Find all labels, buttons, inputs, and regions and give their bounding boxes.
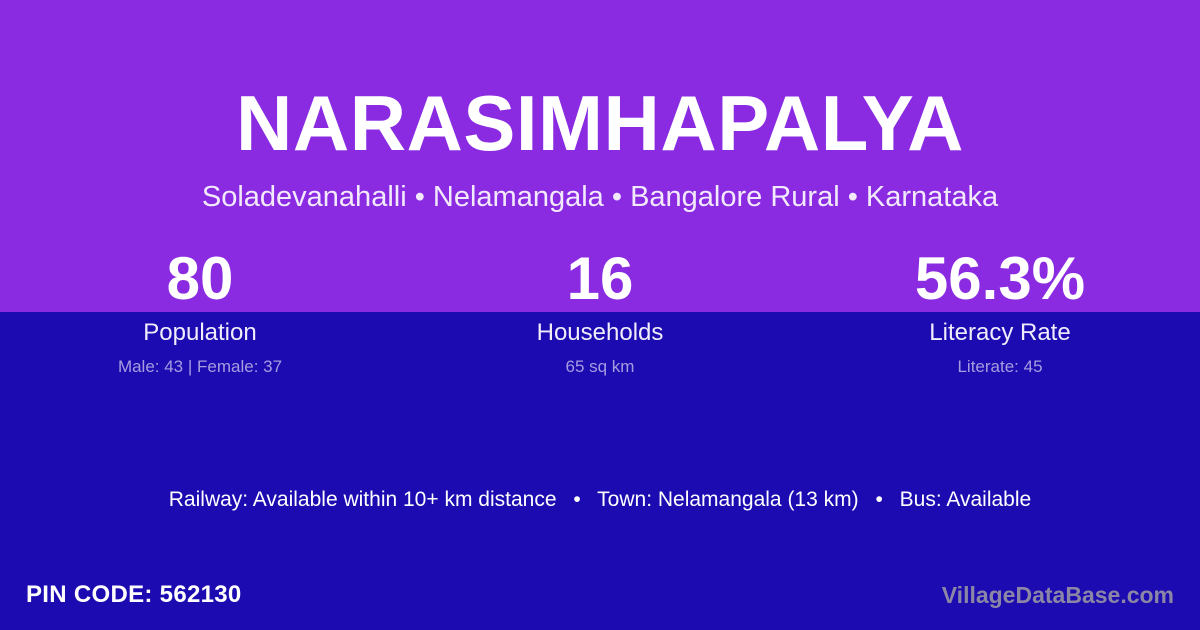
stat-sublabel: 65 sq km <box>400 357 800 377</box>
stat-population: 80 Population Male: 43 | Female: 37 <box>0 248 400 377</box>
facility-railway: Railway: Available within 10+ km distanc… <box>169 488 557 511</box>
stat-sublabel: Literate: 45 <box>800 357 1200 377</box>
facility-town: Town: Nelamangala (13 km) <box>597 488 858 511</box>
stat-label: Households <box>400 319 800 347</box>
bullet-separator-icon: • <box>864 488 893 512</box>
stat-literacy-rate: 56.3% Literacy Rate Literate: 45 <box>800 248 1200 377</box>
stat-label: Literacy Rate <box>800 319 1200 347</box>
brand-watermark: VillageDataBase.com <box>942 581 1174 609</box>
footer: PIN CODE: 562130 VillageDataBase.com <box>0 575 1200 615</box>
stat-label: Population <box>0 319 400 347</box>
stat-value: 56.3% <box>800 248 1200 310</box>
page-title: NARASIMHAPALYA <box>0 84 1200 162</box>
stat-value: 80 <box>0 248 400 310</box>
village-info-card: NARASIMHAPALYA Soladevanahalli • Nelaman… <box>0 0 1200 630</box>
facilities-row: Railway: Available within 10+ km distanc… <box>0 488 1200 512</box>
stats-row: 80 Population Male: 43 | Female: 37 16 H… <box>0 248 1200 377</box>
stat-households: 16 Households 65 sq km <box>400 248 800 377</box>
facility-bus: Bus: Available <box>900 488 1032 511</box>
stat-value: 16 <box>400 248 800 310</box>
bullet-separator-icon: • <box>562 488 591 512</box>
stat-sublabel: Male: 43 | Female: 37 <box>0 357 400 377</box>
breadcrumb: Soladevanahalli • Nelamangala • Bangalor… <box>0 183 1200 212</box>
pin-code: PIN CODE: 562130 <box>26 581 242 609</box>
